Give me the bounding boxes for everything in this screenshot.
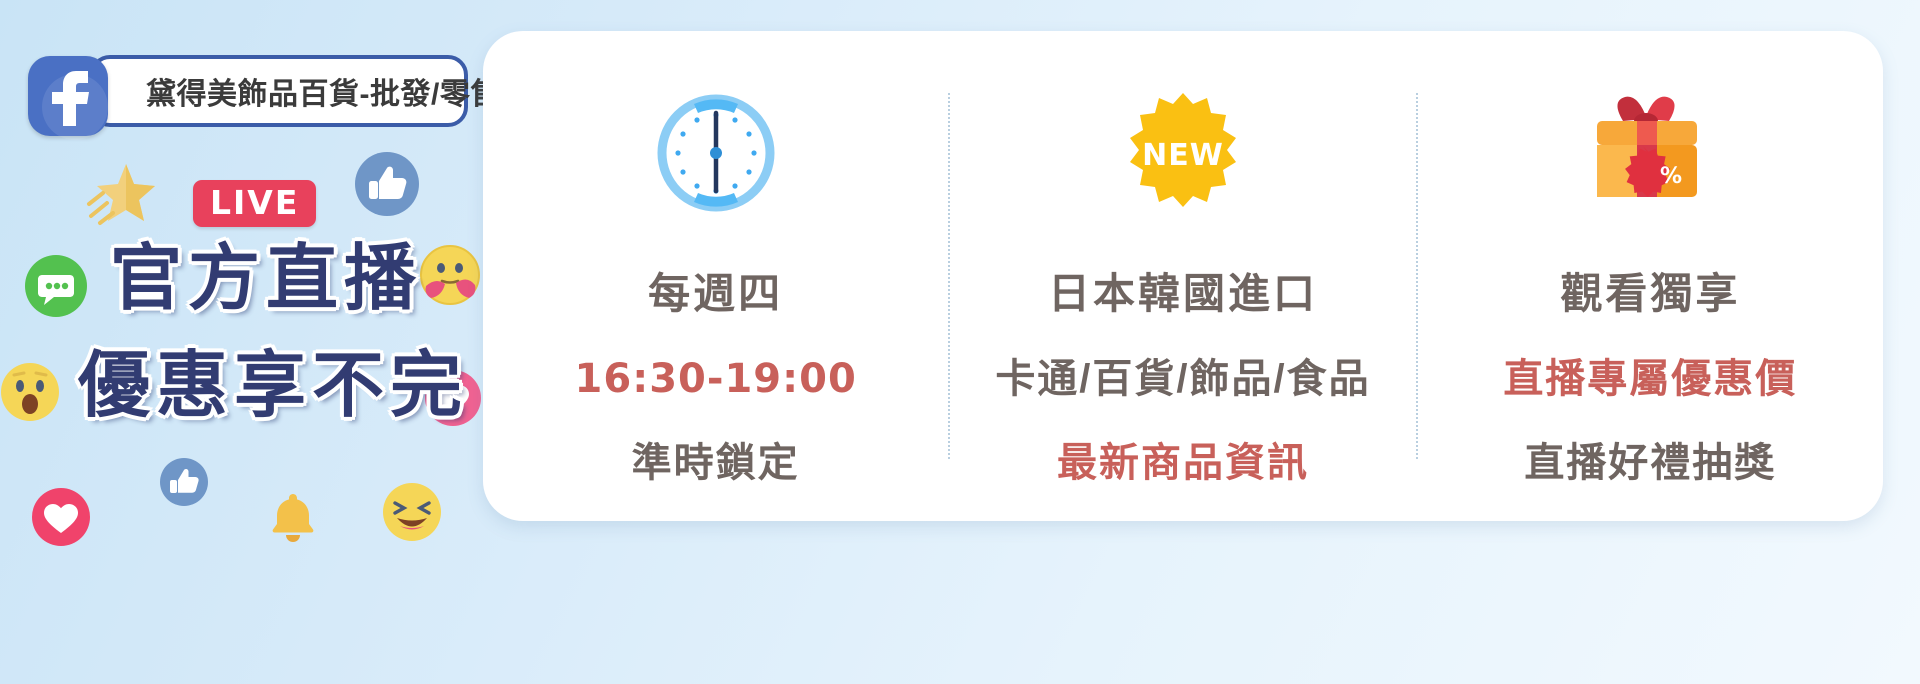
facebook-page-name: 黛得美飾品百貨-批發/零售 [146,69,501,113]
feature-2-line-3: 最新商品資訊 [1057,443,1309,483]
feature-column-schedule: 每週四 16:30-19:00 準時鎖定 [483,31,948,521]
care-hug-emoji [420,245,480,305]
speech-bubble-emoji [25,255,87,317]
feature-3-line-2: 直播專屬優惠價 [1503,359,1797,399]
clock-icon [654,89,778,217]
feature-2-line-2: 卡通/百貨/飾品/食品 [995,359,1370,399]
svg-text:NEW: NEW [1142,138,1224,173]
feature-3-line-3: 直播好禮抽獎 [1524,443,1776,483]
new-badge-icon: NEW [1119,89,1247,217]
feature-column-products: NEW 日本韓國進口 卡通/百貨/飾品/食品 最新商品資訊 [950,31,1415,521]
live-badge-label: LIVE [210,183,299,222]
pink-heart-emoji [32,488,90,546]
feature-column-gift: % 觀看獨享 直播專屬優惠價 直播好禮抽獎 [1418,31,1883,521]
svg-text:%: % [1660,164,1682,189]
feature-1-line-1: 每週四 [648,273,783,315]
gift-box-icon: % [1583,89,1717,217]
thumbs-up-small-emoji [160,458,208,506]
laughing-face-emoji [382,482,442,542]
feature-2-line-1: 日本韓國進口 [1048,273,1318,315]
feature-1-line-3: 準時鎖定 [632,443,800,483]
facebook-f-icon[interactable] [28,56,108,136]
feature-card: 每週四 16:30-19:00 準時鎖定 NEW 日本韓國進口 卡通/百貨/飾品… [483,31,1883,521]
headline-line-2: 優惠享不完 [78,350,468,422]
headline-line-1: 官方直播 [110,243,422,315]
feature-1-line-2: 16:30-19:00 [575,359,857,399]
page-name-plate: 黛得美飾品百貨-批發/零售 [90,55,468,127]
surprised-face-emoji [0,362,60,422]
facebook-page-badge[interactable]: 黛得美飾品百貨-批發/零售 [28,55,468,127]
bell-emoji [265,488,321,544]
live-badge[interactable]: LIVE [193,180,316,227]
thumbs-up-emoji [355,152,419,216]
shooting-star-emoji [86,160,156,226]
promo-left-panel: 黛得美飾品百貨-批發/零售 [0,0,492,684]
feature-3-line-1: 觀看獨享 [1560,273,1740,315]
